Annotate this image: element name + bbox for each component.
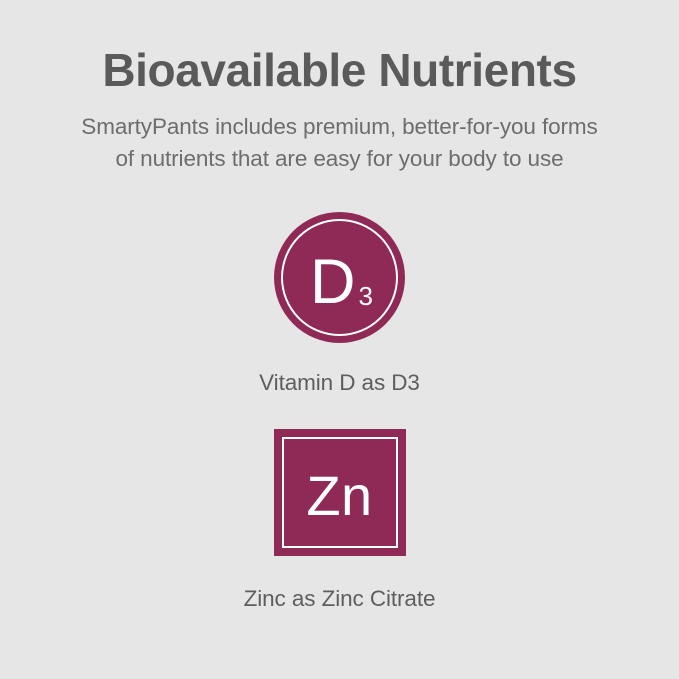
- badge-symbol-main: D: [310, 251, 356, 314]
- page-title: Bioavailable Nutrients: [0, 44, 679, 97]
- nutrient-item-zinc: Zn Zinc as Zinc Citrate: [244, 429, 436, 612]
- nutrient-list: D3 Vitamin D as D3 Zn Zinc as Zinc Citra…: [0, 175, 679, 612]
- subtitle-line-1: SmartyPants includes premium, better-for…: [40, 111, 640, 143]
- subtitle: SmartyPants includes premium, better-for…: [40, 111, 640, 175]
- badge-symbol-subscript: 3: [359, 283, 373, 309]
- header: Bioavailable Nutrients SmartyPants inclu…: [0, 0, 679, 175]
- subtitle-line-2: of nutrients that are easy for your body…: [40, 143, 640, 175]
- nutrient-item-vitamin-d: D3 Vitamin D as D3: [259, 212, 420, 396]
- badge-symbol: Zn: [306, 468, 372, 524]
- nutrient-label-zinc: Zinc as Zinc Citrate: [244, 585, 436, 612]
- nutrient-label-vitamin-d: Vitamin D as D3: [259, 369, 420, 396]
- zinc-square-badge-icon: Zn: [274, 429, 406, 556]
- vitamin-d3-circle-badge-icon: D3: [274, 212, 405, 343]
- badge-symbol-main: Zn: [306, 468, 372, 524]
- bioavailable-nutrients-panel: Bioavailable Nutrients SmartyPants inclu…: [0, 0, 679, 679]
- badge-symbol: D3: [310, 251, 373, 314]
